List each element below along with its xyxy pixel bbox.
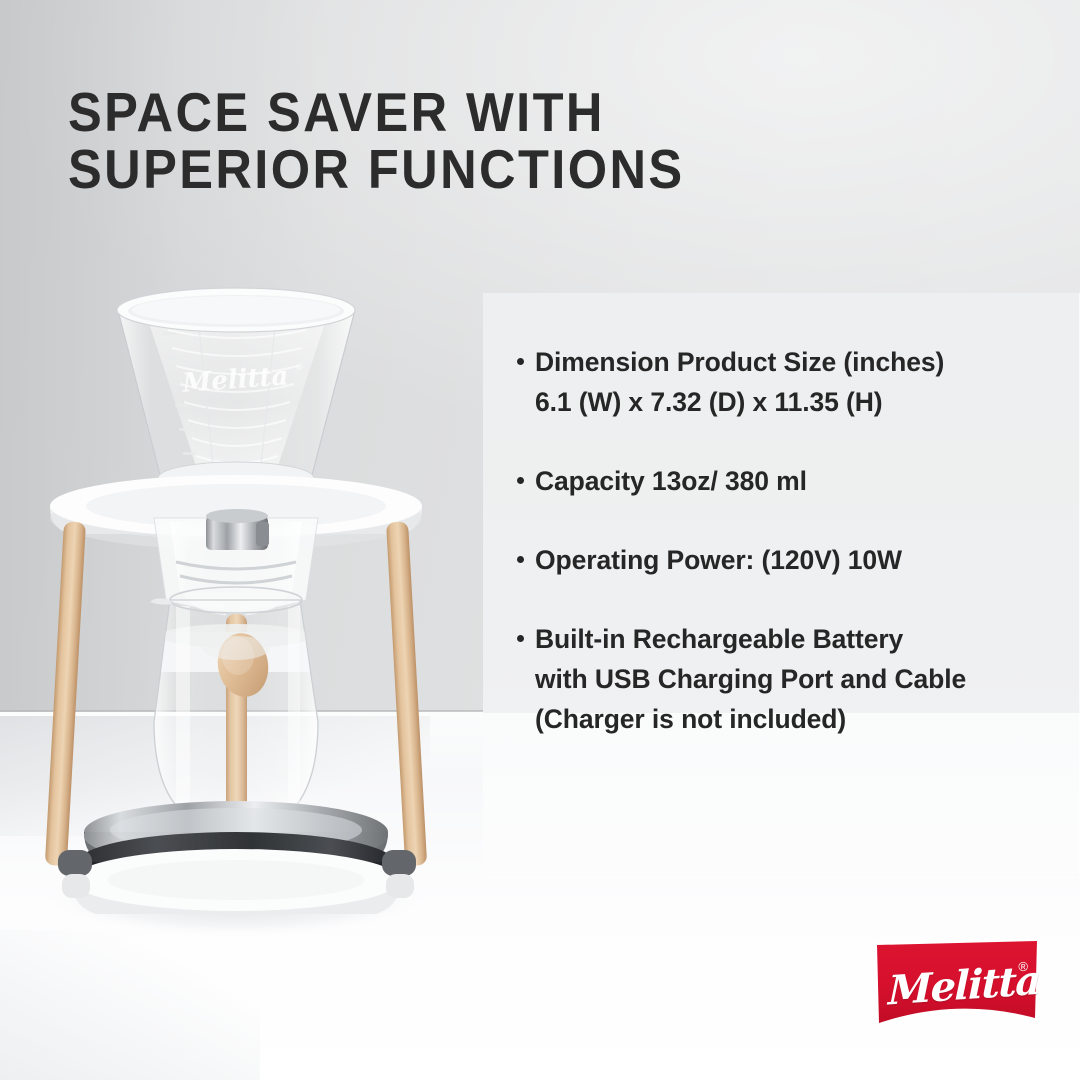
spec-list: Dimension Product Size (inches) 6.1 (W) … bbox=[483, 293, 1080, 878]
svg-text:®: ® bbox=[296, 362, 303, 372]
registered-trademark-icon: ® bbox=[1018, 960, 1028, 973]
melitta-logo: Melitta ® bbox=[872, 936, 1042, 1040]
spec-bullet-power: Operating Power: (120V) 10W bbox=[515, 540, 1060, 580]
spec-bullet-capacity: Capacity 13oz/ 380 ml bbox=[515, 461, 1060, 501]
product-foot-right bbox=[382, 850, 416, 876]
spec-bullet-dimension: Dimension Product Size (inches) 6.1 (W) … bbox=[515, 342, 1060, 422]
product-foot-left bbox=[58, 850, 92, 876]
product-leg-right bbox=[386, 521, 427, 866]
table-reflection-bottom bbox=[0, 930, 260, 1080]
product-base bbox=[58, 801, 416, 914]
spec-bullet-battery: Built-in Rechargeable Battery with USB C… bbox=[515, 619, 1060, 739]
poster-stage: Melitta ® bbox=[0, 0, 1080, 1080]
product-image: Melitta ® bbox=[0, 270, 470, 950]
melitta-logo-wordmark: Melitta bbox=[888, 953, 1015, 1020]
page-title: SPACE SAVER WITH SUPERIOR FUNCTIONS bbox=[68, 84, 804, 198]
product-carafe bbox=[150, 587, 318, 833]
product-leg-left bbox=[45, 521, 86, 866]
product-dripper-cone: Melitta ® bbox=[117, 288, 355, 494]
